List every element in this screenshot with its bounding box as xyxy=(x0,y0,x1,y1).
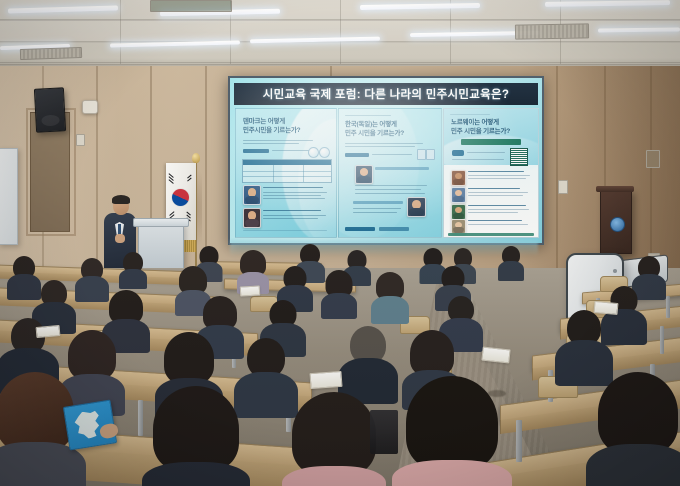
ceiling-vent xyxy=(515,23,589,39)
slide-panel-germany: 한국(독일)는 어떻게 민주 시민을 기르는가? xyxy=(338,108,442,238)
lectern-top xyxy=(596,186,634,192)
panel-heading: 덴마크는 어떻게 민주시민을 기르는가? xyxy=(243,118,327,135)
speaker-portrait xyxy=(451,187,466,203)
lecture-hall-photograph: 시민교육 국제 포럼: 다른 나라의 민주시민교육은? 덴마크는 어떻게 민주시… xyxy=(0,0,680,486)
desk-leg xyxy=(660,326,664,354)
panel-heading: 한국(독일)는 어떻게 민주 시민을 기르는가? xyxy=(345,121,431,138)
handout-paper xyxy=(481,347,510,364)
audience-member xyxy=(498,246,524,278)
wall-frame xyxy=(646,150,660,168)
audience-member xyxy=(238,250,268,286)
desk-leg xyxy=(666,296,670,318)
wall-lamp-icon xyxy=(82,100,98,114)
flag-finial-icon xyxy=(192,153,200,163)
audience-member xyxy=(286,392,382,486)
audience-member xyxy=(148,386,244,486)
audience-member xyxy=(340,326,396,402)
slide-title-banner: 시민교육 국제 포럼: 다른 나라의 민주시민교육은? xyxy=(234,83,538,105)
audience-member xyxy=(322,270,356,314)
audience-member xyxy=(120,252,146,284)
projection-screen: 시민교육 국제 포럼: 다른 나라의 민주시민교육은? 덴마크는 어떻게 민주시… xyxy=(228,76,544,245)
handout-paper xyxy=(594,301,619,315)
handout-paper xyxy=(240,285,260,296)
wooden-lectern xyxy=(600,190,632,254)
qr-code xyxy=(510,148,528,166)
bag xyxy=(370,410,398,454)
speaker-portrait xyxy=(243,185,261,205)
wall-speaker-icon xyxy=(34,87,66,133)
slide-panel-norway: 노르웨이는 어떻게 민주 시민을 기르는가? xyxy=(443,108,539,238)
desk-leg xyxy=(138,400,143,436)
speaker-portrait xyxy=(451,204,466,220)
desk-leg xyxy=(516,420,522,462)
speaker-portrait xyxy=(355,165,373,184)
handout-paper xyxy=(36,325,61,338)
speaker-portrait xyxy=(243,208,261,228)
whiteboard-handle[interactable] xyxy=(613,269,617,273)
audience-member xyxy=(400,376,504,486)
speaker-portrait xyxy=(451,219,466,234)
bulletin-board xyxy=(0,148,18,245)
slide-title-text: 시민교육 국제 포럼: 다른 나라의 민주시민교육은? xyxy=(263,86,510,102)
speaker-portrait xyxy=(451,170,466,186)
screen-reflection xyxy=(230,240,538,256)
audience-member xyxy=(590,372,680,486)
presenter-hair xyxy=(112,195,130,204)
audience-member xyxy=(372,272,408,318)
taeguk-symbol xyxy=(172,189,189,206)
podium-top xyxy=(133,218,189,227)
speaker-portrait xyxy=(407,197,426,217)
handout-paper xyxy=(309,371,342,389)
lectern-emblem-icon xyxy=(610,217,625,232)
presenter-hands xyxy=(115,234,125,243)
slide-panel-denmark: 덴마크는 어떻게 민주시민을 기르는가? xyxy=(235,108,337,238)
panel-accent-bar xyxy=(461,139,521,145)
wall-plate xyxy=(558,180,568,194)
wall-plate xyxy=(76,134,85,146)
ceiling-vent xyxy=(150,0,232,12)
panel-heading: 노르웨이는 어떻게 민주 시민을 기르는가? xyxy=(451,119,533,136)
